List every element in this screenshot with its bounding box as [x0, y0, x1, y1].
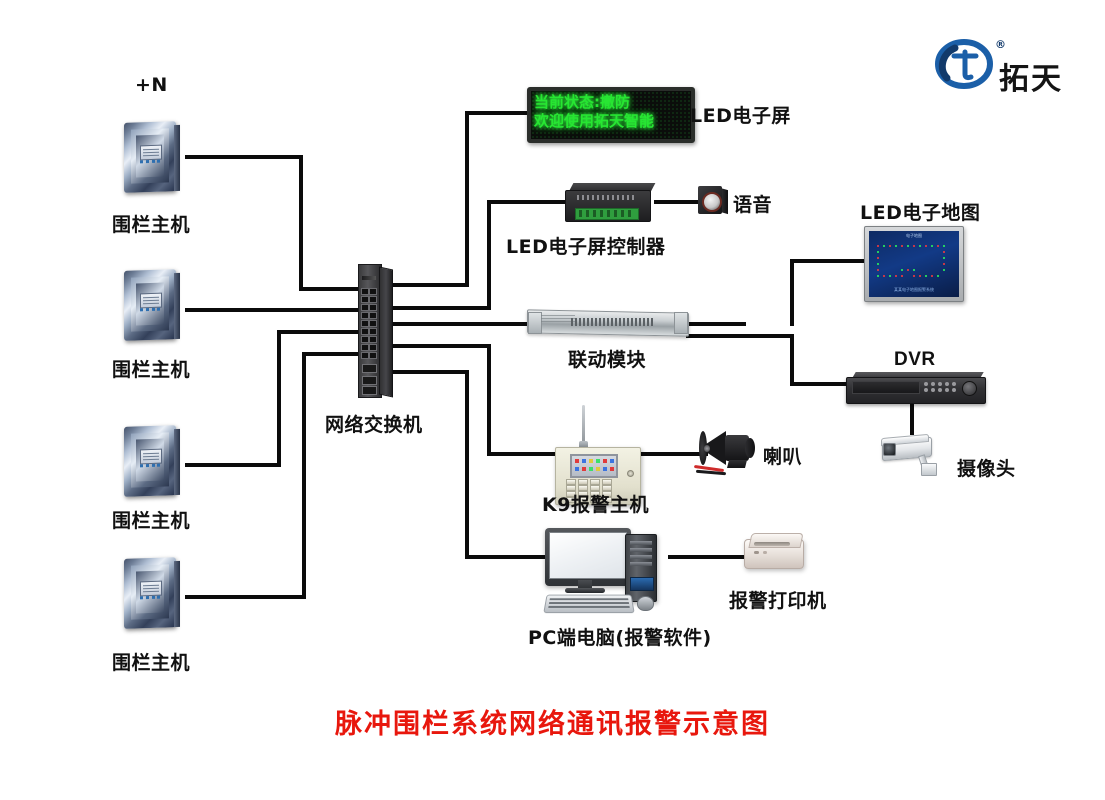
- wire-sw-k9-h2: [487, 452, 555, 456]
- diagram-canvas: ® 拓天 +N 围栏: [0, 0, 1105, 800]
- wire-link-dvr-h2: [790, 382, 846, 386]
- wire-host3-h2: [277, 330, 361, 334]
- wire-sw-k9-v: [487, 344, 491, 456]
- wire-host3-h: [185, 463, 281, 467]
- wire-sw-led-h2: [465, 111, 527, 115]
- horn-speaker-icon[interactable]: [700, 429, 762, 475]
- wire-host4-h: [185, 595, 306, 599]
- brand-logo: ® 拓天: [935, 38, 1095, 96]
- wire-sw-k9-h: [389, 344, 491, 348]
- wire-link-map-h: [686, 322, 746, 326]
- led-map-caption: 某某电子地图报警系统: [869, 287, 959, 293]
- wire-link-dvr-h: [686, 334, 790, 338]
- fence-host-4-label: 围栏主机: [112, 648, 190, 675]
- wire-host1-v: [299, 155, 303, 291]
- network-switch-icon[interactable]: [358, 264, 392, 396]
- wire-k9-horn: [640, 452, 708, 456]
- wire-sw-pc-h: [389, 370, 469, 374]
- wire-host1-h: [185, 155, 303, 159]
- wire-link-map-v: [790, 259, 794, 326]
- printer-label: 报警打印机: [729, 586, 827, 613]
- led-display-icon[interactable]: 当前状态:撤防 欢迎使用拓天智能: [527, 87, 695, 143]
- wire-link-dvr-v: [790, 334, 794, 386]
- voice-label: 语音: [733, 190, 772, 217]
- k9-label: K9报警主机: [542, 490, 649, 517]
- wire-sw-link-h: [389, 322, 527, 326]
- fence-host-3-label: 围栏主机: [112, 506, 190, 533]
- fence-host-icon[interactable]: [118, 268, 184, 342]
- wire-sw-led-v: [465, 111, 469, 287]
- wire-host4-h2: [302, 352, 361, 356]
- wire-sw-pc-v: [465, 370, 469, 559]
- horn-label: 喇叭: [763, 442, 802, 469]
- wire-host2-h: [185, 308, 361, 312]
- wire-sw-led-h: [389, 283, 469, 287]
- network-switch-label: 网络交换机: [325, 410, 423, 437]
- linkage-module-label: 联动模块: [568, 345, 646, 372]
- led-controller-icon[interactable]: [565, 183, 657, 223]
- wire-sw-ctl-v: [487, 200, 491, 310]
- fence-host-1-label: 围栏主机: [112, 210, 190, 237]
- fence-host-icon[interactable]: [118, 424, 184, 498]
- registered-mark: ®: [995, 38, 1006, 51]
- plus-n-annotation: +N: [135, 74, 168, 96]
- wire-host4-v: [302, 352, 306, 599]
- led-map-icon[interactable]: 电子地图 某某电子地图报警系统: [864, 226, 964, 302]
- led-line-1: 当前状态:撤防: [534, 93, 630, 111]
- camera-label: 摄像头: [957, 454, 1016, 481]
- linkage-module-icon[interactable]: [527, 311, 687, 337]
- fence-host-2-label: 围栏主机: [112, 355, 190, 382]
- voice-speaker-icon[interactable]: [698, 186, 728, 216]
- led-line-2: 欢迎使用拓天智能: [534, 112, 654, 130]
- printer-icon[interactable]: [744, 533, 808, 573]
- led-map-title: 电子地图: [869, 233, 959, 239]
- brand-name: 拓天: [999, 54, 1063, 98]
- cctv-camera-icon[interactable]: [880, 435, 944, 475]
- dvr-icon[interactable]: [846, 372, 986, 404]
- wire-dvr-cam: [910, 402, 914, 435]
- wire-host3-v: [277, 330, 281, 467]
- desktop-computer-icon[interactable]: [545, 528, 675, 614]
- wire-sw-ctl-h2: [487, 200, 567, 204]
- led-controller-label: LED电子屏控制器: [506, 232, 665, 259]
- fence-host-icon[interactable]: [118, 120, 184, 194]
- led-map-label: LED电子地图: [860, 198, 980, 225]
- dvr-label: DVR: [894, 349, 936, 371]
- wire-sw-ctl-h: [389, 306, 491, 310]
- wire-sw-pc-h2: [465, 555, 545, 559]
- pc-label: PC端电脑(报警软件): [528, 623, 712, 650]
- page-title: 脉冲围栏系统网络通讯报警示意图: [0, 702, 1105, 741]
- tuotian-logo-icon: [935, 38, 993, 90]
- wire-host1-h2: [299, 287, 361, 291]
- wire-ctl-voice: [654, 200, 698, 204]
- alarm-host-icon[interactable]: [555, 405, 641, 503]
- led-screen-label: LED电子屏: [690, 101, 791, 128]
- wire-link-map-h2: [790, 259, 864, 263]
- fence-host-icon[interactable]: [118, 556, 184, 630]
